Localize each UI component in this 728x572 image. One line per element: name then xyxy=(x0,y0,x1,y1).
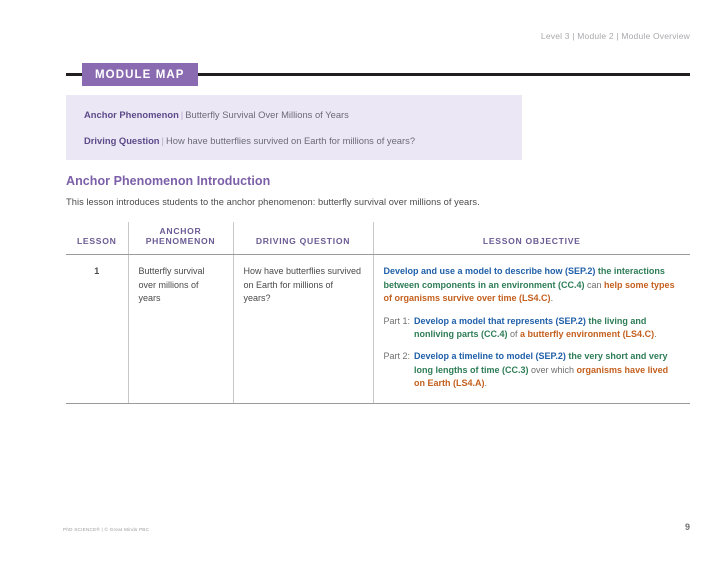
objective-segment-plain: of xyxy=(510,329,520,339)
table-header-row: LESSON ANCHOR PHENOMENON DRIVING QUESTIO… xyxy=(66,222,690,255)
objective-segment-plain: . xyxy=(485,378,488,388)
column-header-lesson: LESSON xyxy=(66,222,128,255)
module-map-header: MODULE MAP xyxy=(66,63,690,87)
objective-part-label: Part 2: xyxy=(384,350,415,391)
anchor-info-box: Anchor Phenomenon|Butterfly Survival Ove… xyxy=(66,95,522,160)
objective-segment-dci: a butterfly environment (LS4.C) xyxy=(520,329,654,339)
objective-segment-sep: Develop and use a model to describe how … xyxy=(384,266,598,276)
module-map-table: LESSON ANCHOR PHENOMENON DRIVING QUESTIO… xyxy=(66,222,690,404)
section-intro-text: This lesson introduces students to the a… xyxy=(66,197,480,207)
table-row: 1 Butterfly survival over millions of ye… xyxy=(66,255,690,404)
running-head: Level 3 | Module 2 | Module Overview xyxy=(541,31,690,41)
column-header-driving-question: DRIVING QUESTION xyxy=(233,222,373,255)
objective-main-statement: Develop and use a model to describe how … xyxy=(384,265,681,306)
column-header-anchor-line2: PHENOMENON xyxy=(146,236,216,246)
objective-segment-sep: Develop a timeline to model (SEP.2) xyxy=(414,351,568,361)
cell-anchor-phenomenon: Butterfly survival over millions of year… xyxy=(128,255,233,404)
objective-segment-plain: . xyxy=(654,329,657,339)
anchor-phenomenon-line: Anchor Phenomenon|Butterfly Survival Ove… xyxy=(84,109,522,121)
anchor-phenomenon-label: Anchor Phenomenon xyxy=(84,109,179,120)
objective-part-text: Develop a model that represents (SEP.2) … xyxy=(414,315,680,342)
driving-question-value: How have butterflies survived on Earth f… xyxy=(166,135,415,146)
section-heading: Anchor Phenomenon Introduction xyxy=(66,174,270,188)
module-map-table-wrap: LESSON ANCHOR PHENOMENON DRIVING QUESTIO… xyxy=(66,222,690,404)
objective-part-text: Develop a timeline to model (SEP.2) the … xyxy=(414,350,680,391)
objective-parts-list: Part 1:Develop a model that represents (… xyxy=(384,315,681,391)
anchor-phenomenon-value: Butterfly Survival Over Millions of Year… xyxy=(185,109,349,120)
driving-question-label: Driving Question xyxy=(84,135,160,146)
column-header-anchor-phenomenon: ANCHOR PHENOMENON xyxy=(128,222,233,255)
footer-page-number: 9 xyxy=(685,522,690,532)
objective-part: Part 1:Develop a model that represents (… xyxy=(384,315,681,342)
cell-lesson-objective: Develop and use a model to describe how … xyxy=(373,255,690,404)
table-body: 1 Butterfly survival over millions of ye… xyxy=(66,255,690,404)
objective-segment-plain: . xyxy=(551,293,554,303)
objective-segment-plain: can xyxy=(587,280,604,290)
objective-part-label: Part 1: xyxy=(384,315,415,342)
cell-driving-question: How have butterflies survived on Earth f… xyxy=(233,255,373,404)
module-map-badge: MODULE MAP xyxy=(82,63,198,86)
column-header-anchor-line1: ANCHOR xyxy=(160,226,202,236)
footer-copyright: PhD SCIENCE® | © Great Minds PBC xyxy=(63,527,149,532)
objective-segment-sep: Develop a model that represents (SEP.2) xyxy=(414,316,588,326)
objective-part: Part 2:Develop a timeline to model (SEP.… xyxy=(384,350,681,391)
objective-segment-plain: over which xyxy=(531,365,577,375)
driving-question-line: Driving Question|How have butterflies su… xyxy=(84,135,522,147)
column-header-lesson-objective: LESSON OBJECTIVE xyxy=(373,222,690,255)
cell-lesson-number: 1 xyxy=(66,255,128,404)
